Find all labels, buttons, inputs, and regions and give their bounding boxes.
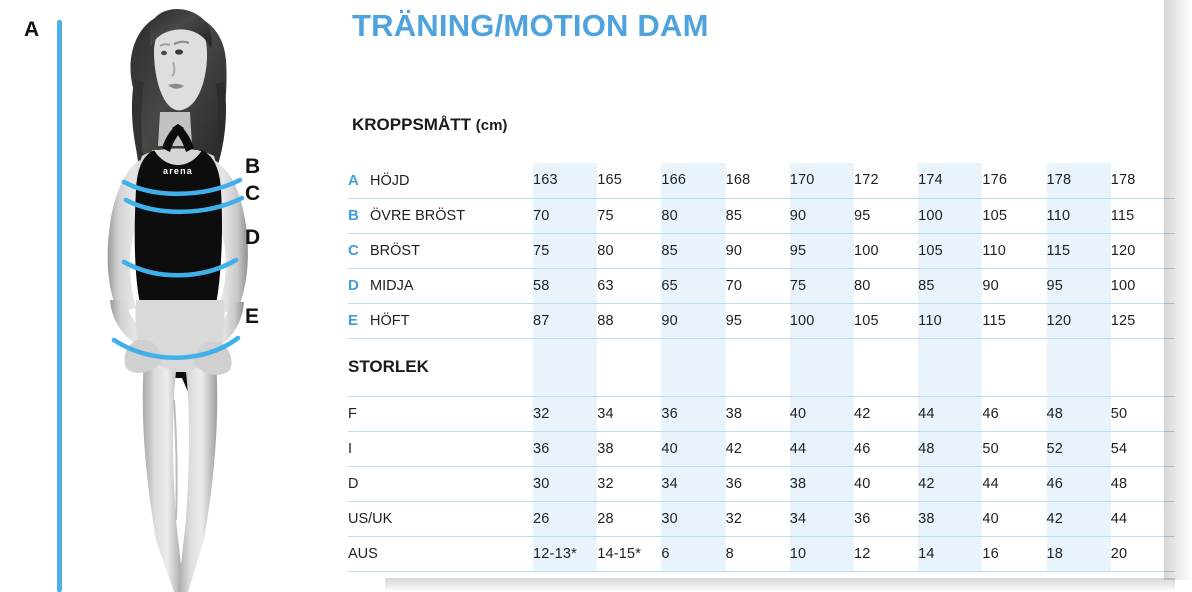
cell: 44 [790, 431, 854, 466]
cell: 34 [790, 501, 854, 536]
row-header-f: F [348, 396, 533, 431]
cell: 105 [982, 198, 1046, 233]
cell: 70 [533, 198, 597, 233]
cell: 20 [1111, 536, 1175, 571]
cell: 75 [533, 233, 597, 268]
cell: 38 [726, 396, 790, 431]
cell: 18 [1047, 536, 1111, 571]
table-row: EHÖFT 87 88 90 95 100 105 110 115 120 12… [348, 303, 1175, 338]
cell: 100 [790, 303, 854, 338]
page-title: TRÄNING/MOTION DAM [352, 8, 709, 44]
cell: 34 [597, 396, 661, 431]
cell-empty [661, 338, 725, 396]
cell: 105 [918, 233, 982, 268]
cell: 90 [982, 268, 1046, 303]
cell: 115 [982, 303, 1046, 338]
guide-label-c: C [245, 182, 261, 206]
cell-empty [597, 338, 661, 396]
row-header-aus: AUS [348, 536, 533, 571]
cell: 95 [854, 198, 918, 233]
cell: 85 [918, 268, 982, 303]
cell: 48 [1047, 396, 1111, 431]
table-row: DMIDJA 58 63 65 70 75 80 85 90 95 100 [348, 268, 1175, 303]
cell: 42 [854, 396, 918, 431]
cell: 6 [661, 536, 725, 571]
size-section-heading: STORLEK [348, 338, 533, 396]
cell-empty [1047, 338, 1111, 396]
cell-empty [982, 338, 1046, 396]
cell: 46 [1047, 466, 1111, 501]
cell: 115 [1111, 198, 1175, 233]
cell: 52 [1047, 431, 1111, 466]
cell: 32 [533, 396, 597, 431]
row-tag-d: D [348, 277, 370, 294]
cell: 58 [533, 268, 597, 303]
cell: 115 [1047, 233, 1111, 268]
cell: 40 [854, 466, 918, 501]
table-row: F 32 34 36 38 40 42 44 46 48 50 [348, 396, 1175, 431]
cell-empty [918, 338, 982, 396]
table-row: AUS 12-13* 14-15* 6 8 10 12 14 16 18 20 [348, 536, 1175, 571]
body-measurements-heading: KROPPSMÅTT (cm) [352, 115, 507, 135]
cell: 38 [597, 431, 661, 466]
cell: 178 [1111, 163, 1175, 198]
cell: 100 [854, 233, 918, 268]
cell: 36 [661, 396, 725, 431]
svg-text:arena: arena [163, 166, 193, 176]
cell: 95 [1047, 268, 1111, 303]
table-row: AHÖJD 163 165 166 168 170 172 174 176 17… [348, 163, 1175, 198]
cell: 174 [918, 163, 982, 198]
cell: 170 [790, 163, 854, 198]
row-name-hojd: HÖJD [370, 173, 409, 189]
guide-label-b: B [245, 155, 261, 179]
cell: 34 [661, 466, 725, 501]
cell: 36 [854, 501, 918, 536]
row-tag-b: B [348, 207, 370, 224]
cell: 54 [1111, 431, 1175, 466]
row-header-hoft: EHÖFT [348, 303, 533, 338]
height-guide-line [57, 20, 62, 592]
cell: 70 [726, 268, 790, 303]
cell: 14 [918, 536, 982, 571]
cell: 14-15* [597, 536, 661, 571]
cell: 90 [661, 303, 725, 338]
cell: 75 [597, 198, 661, 233]
row-name-hoft: HÖFT [370, 313, 409, 329]
cell: 26 [533, 501, 597, 536]
cell: 90 [790, 198, 854, 233]
cell: 163 [533, 163, 597, 198]
cell: 166 [661, 163, 725, 198]
size-section-heading-row: STORLEK [348, 338, 1175, 396]
cell: 44 [982, 466, 1046, 501]
cell: 100 [1111, 268, 1175, 303]
size-chart-body: AHÖJD 163 165 166 168 170 172 174 176 17… [348, 163, 1175, 571]
cell: 40 [790, 396, 854, 431]
cell: 12 [854, 536, 918, 571]
cell: 110 [918, 303, 982, 338]
cell: 125 [1111, 303, 1175, 338]
row-header-brost: CBRÖST [348, 233, 533, 268]
cell: 80 [854, 268, 918, 303]
cell: 50 [1111, 396, 1175, 431]
cell: 80 [661, 198, 725, 233]
row-tag-c: C [348, 242, 370, 259]
cell: 63 [597, 268, 661, 303]
row-name-f: F [348, 406, 357, 422]
cell: 42 [1047, 501, 1111, 536]
cell: 95 [726, 303, 790, 338]
cell: 85 [661, 233, 725, 268]
body-measurements-heading-text: KROPPSMÅTT [352, 115, 471, 134]
table-row: US/UK 26 28 30 32 34 36 38 40 42 44 [348, 501, 1175, 536]
cell: 40 [982, 501, 1046, 536]
row-name-midja: MIDJA [370, 278, 414, 294]
cell: 40 [661, 431, 725, 466]
cell: 165 [597, 163, 661, 198]
model-photo: arena [78, 0, 308, 592]
guide-label-e: E [245, 305, 260, 329]
row-header-midja: DMIDJA [348, 268, 533, 303]
cell: 16 [982, 536, 1046, 571]
row-name-i: I [348, 441, 352, 457]
cell: 120 [1047, 303, 1111, 338]
cell: 28 [597, 501, 661, 536]
cell-empty [533, 338, 597, 396]
cell: 80 [597, 233, 661, 268]
table-row: BÖVRE BRÖST 70 75 80 85 90 95 100 105 11… [348, 198, 1175, 233]
cell: 30 [533, 466, 597, 501]
body-measurements-unit: (cm) [476, 117, 508, 134]
cell: 30 [661, 501, 725, 536]
row-name-ovre-brost: ÖVRE BRÖST [370, 208, 465, 224]
cell: 100 [918, 198, 982, 233]
cell: 38 [918, 501, 982, 536]
cell: 105 [854, 303, 918, 338]
row-tag-a: A [348, 172, 370, 189]
row-header-d: D [348, 466, 533, 501]
cell: 178 [1047, 163, 1111, 198]
cell: 46 [982, 396, 1046, 431]
cell: 75 [790, 268, 854, 303]
cell: 85 [726, 198, 790, 233]
cell: 110 [982, 233, 1046, 268]
size-chart-table: AHÖJD 163 165 166 168 170 172 174 176 17… [348, 163, 1175, 572]
cell-empty [790, 338, 854, 396]
row-header-us-uk: US/UK [348, 501, 533, 536]
row-tag-e: E [348, 312, 370, 329]
cell: 36 [533, 431, 597, 466]
row-name-brost: BRÖST [370, 243, 420, 259]
cell: 44 [918, 396, 982, 431]
cell: 36 [726, 466, 790, 501]
cell: 110 [1047, 198, 1111, 233]
cell: 38 [790, 466, 854, 501]
cell-empty [854, 338, 918, 396]
cell: 120 [1111, 233, 1175, 268]
cell: 8 [726, 536, 790, 571]
guide-label-a: A [24, 18, 40, 42]
cell: 95 [790, 233, 854, 268]
row-header-hojd: AHÖJD [348, 163, 533, 198]
cell: 46 [854, 431, 918, 466]
cell: 12-13* [533, 536, 597, 571]
cell: 10 [790, 536, 854, 571]
cell-empty [1111, 338, 1175, 396]
row-header-ovre-brost: BÖVRE BRÖST [348, 198, 533, 233]
row-name-us-uk: US/UK [348, 511, 392, 527]
cell: 32 [597, 466, 661, 501]
cell: 88 [597, 303, 661, 338]
cell: 48 [918, 431, 982, 466]
cell: 48 [1111, 466, 1175, 501]
chart-content: TRÄNING/MOTION DAM KROPPSMÅTT (cm) AHÖJD… [340, 0, 1192, 592]
cell: 42 [918, 466, 982, 501]
size-chart-page: A [0, 0, 1192, 592]
cell: 32 [726, 501, 790, 536]
cell: 90 [726, 233, 790, 268]
guide-label-d: D [245, 226, 261, 250]
cell-empty [726, 338, 790, 396]
size-chart-table-wrapper: AHÖJD 163 165 166 168 170 172 174 176 17… [348, 163, 1175, 572]
cell: 168 [726, 163, 790, 198]
row-name-aus: AUS [348, 546, 378, 562]
cell: 50 [982, 431, 1046, 466]
row-name-d: D [348, 476, 358, 492]
table-row: CBRÖST 75 80 85 90 95 100 105 110 115 12… [348, 233, 1175, 268]
row-header-i: I [348, 431, 533, 466]
table-row: I 36 38 40 42 44 46 48 50 52 54 [348, 431, 1175, 466]
cell: 176 [982, 163, 1046, 198]
cell: 44 [1111, 501, 1175, 536]
cell: 42 [726, 431, 790, 466]
table-row: D 30 32 34 36 38 40 42 44 46 48 [348, 466, 1175, 501]
cell: 172 [854, 163, 918, 198]
cell: 65 [661, 268, 725, 303]
model-photo-panel: A [0, 0, 340, 592]
cell: 87 [533, 303, 597, 338]
